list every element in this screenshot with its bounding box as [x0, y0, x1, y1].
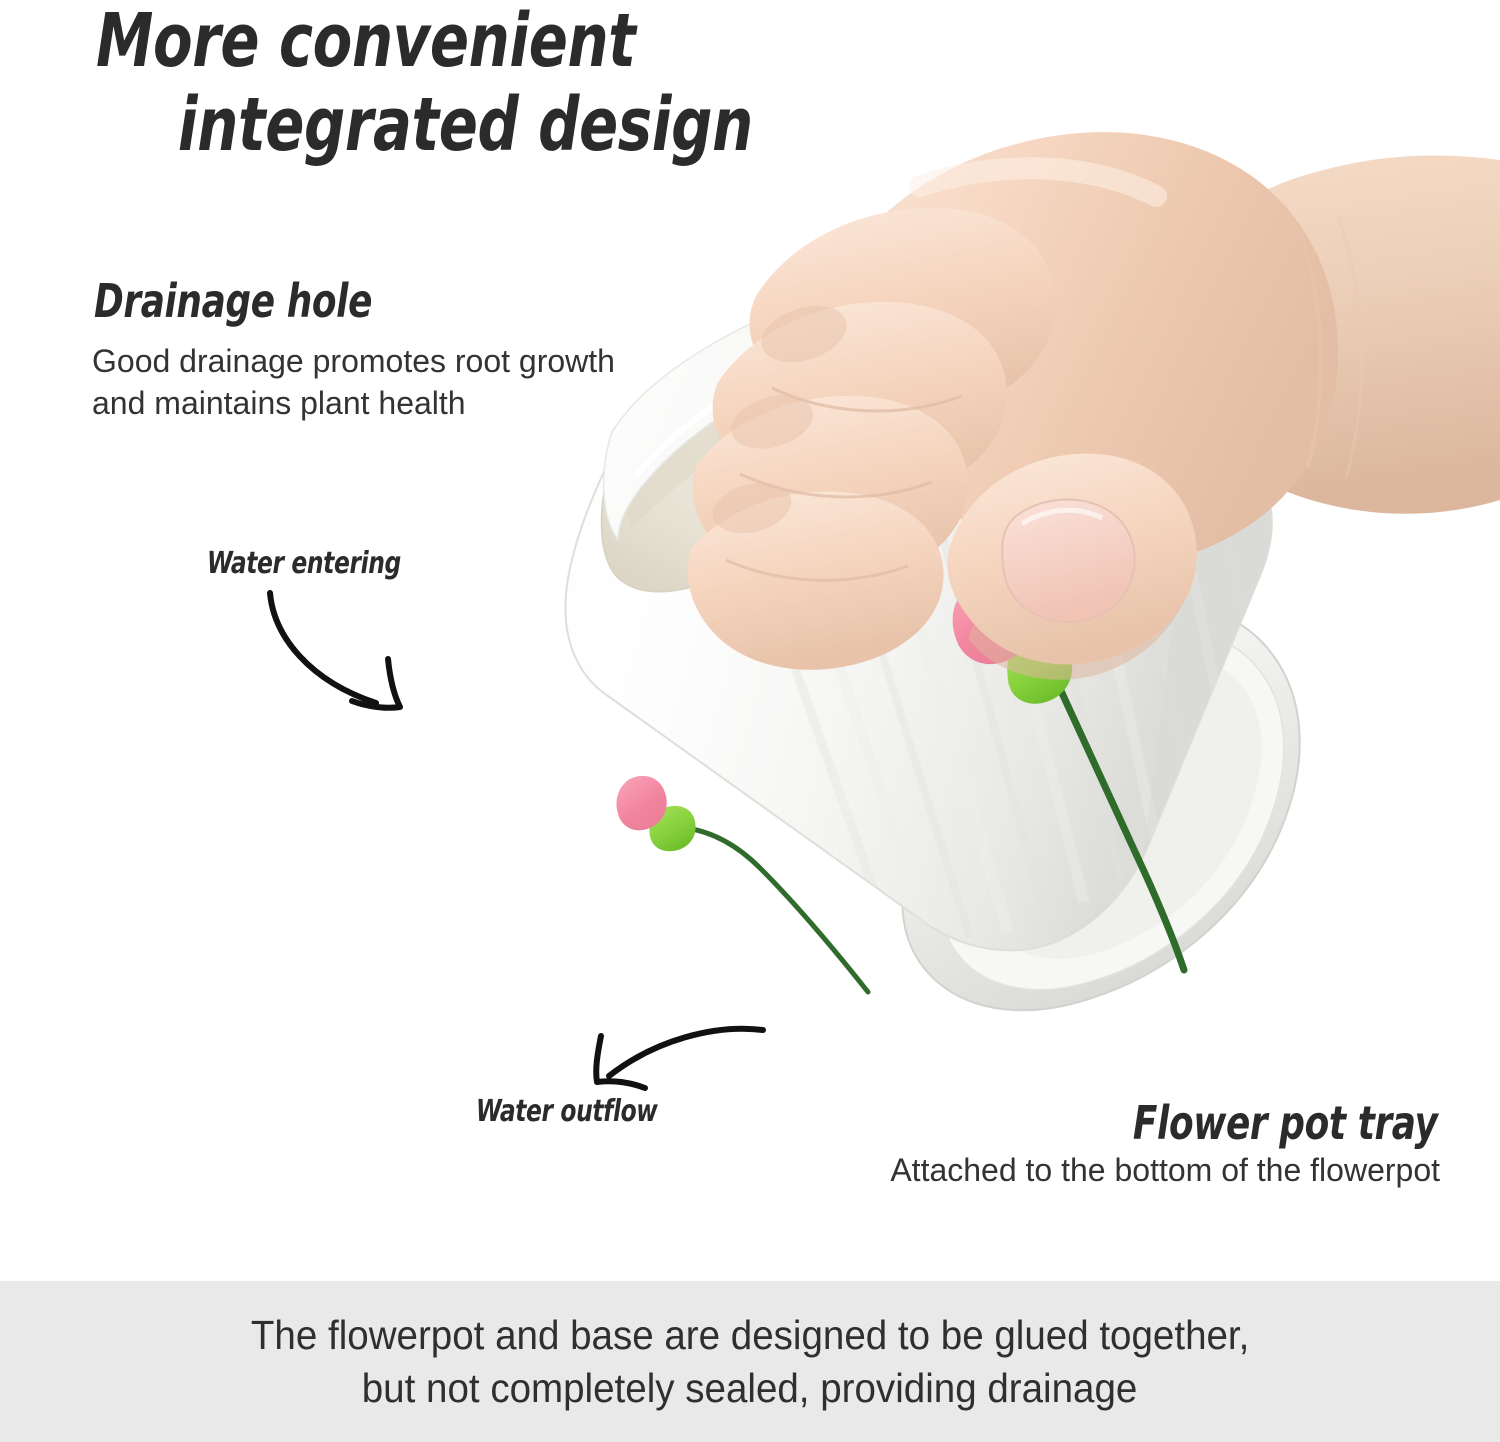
caption-line-2: but not completely sealed, providing dra… [362, 1362, 1138, 1414]
water-outflow-label: Water outflow [476, 1094, 658, 1129]
product-photo [500, 120, 1500, 1060]
drainage-hole-heading: Drainage hole [94, 274, 372, 328]
flower-pot-tray-description: Attached to the bottom of the flowerpot [890, 1152, 1440, 1189]
caption-banner: The flowerpot and base are designed to b… [0, 1281, 1500, 1442]
water-entering-label: Water entering [207, 546, 401, 581]
infographic-page: More convenient integrated design Draina… [0, 0, 1500, 1442]
hand-illustration [687, 132, 1500, 680]
water-entering-arrow-icon [240, 575, 430, 725]
caption-line-1: The flowerpot and base are designed to b… [251, 1309, 1249, 1361]
page-title-line-1: More convenient [96, 4, 753, 78]
product-photo-illustration [500, 120, 1500, 1060]
flower-pot-tray-heading: Flower pot tray [1133, 1096, 1438, 1150]
